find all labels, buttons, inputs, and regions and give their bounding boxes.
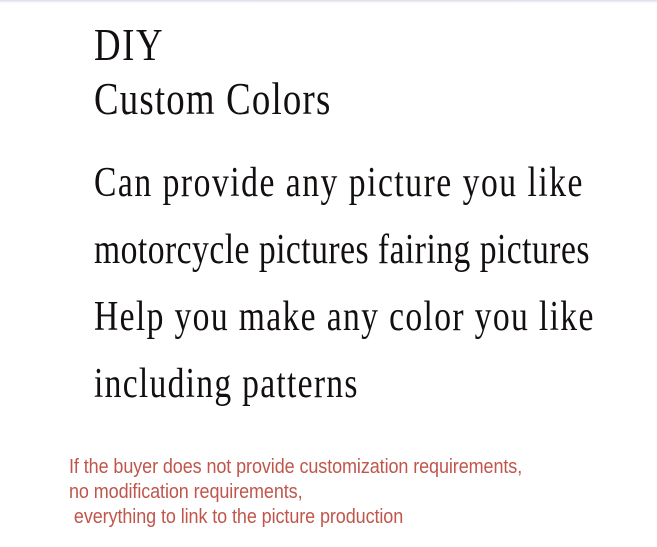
promo-banner: DIY Custom Colors Can provide any pictur… (0, 0, 657, 547)
headline-line-custom-colors: Custom Colors (94, 76, 530, 162)
note-line-link-to-picture-production: everything to link to the picture produc… (69, 505, 591, 530)
note-text-block: If the buyer does not provide customizat… (69, 455, 649, 530)
headline-line-can-provide-any-picture: Can provide any picture you like (94, 162, 530, 229)
top-edge-seam (0, 0, 657, 3)
headline-line-motorcycle-pictures: motorcycle pictures fairing pictures (94, 229, 530, 296)
headline-text-block: DIY Custom Colors Can provide any pictur… (94, 22, 639, 430)
note-line-no-customization-requirements: If the buyer does not provide customizat… (69, 455, 591, 480)
note-line-no-modification-requirements: no modification requirements, (69, 480, 591, 505)
headline-line-diy: DIY (94, 22, 530, 76)
headline-line-help-you-make-any-color: Help you make any color you like (94, 296, 530, 363)
headline-line-including-patterns: including patterns (94, 363, 530, 430)
